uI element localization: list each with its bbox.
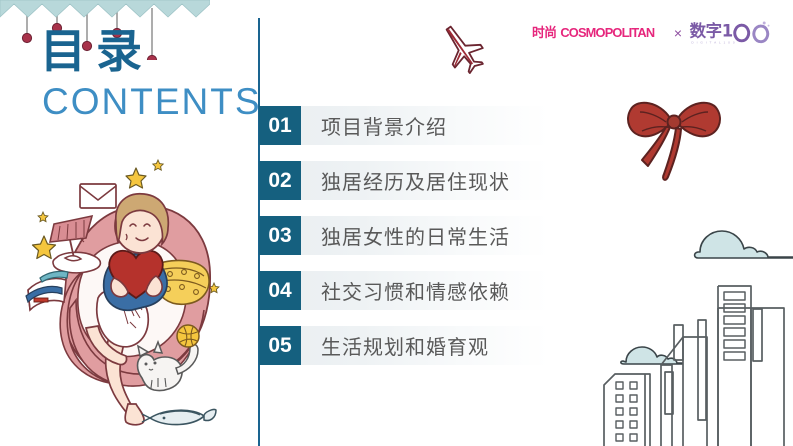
toc-label-03: 独居女性的日常生活: [321, 221, 510, 250]
woman-on-armchair-illustration: [18, 150, 254, 440]
toc-item-04[interactable]: 04 社交习惯和情感依赖: [259, 271, 549, 310]
cosmopolitan-logo-icon: 时尚 COSMOPOLITAN: [532, 22, 667, 44]
toc-number-03: 03: [259, 216, 301, 255]
toc-item-01[interactable]: 01 项目背景介绍: [259, 106, 549, 145]
title-english: CONTENTS: [42, 83, 250, 120]
svg-text:数字1: 数字1: [690, 21, 733, 40]
toc-number-01: 01: [259, 106, 301, 145]
toc-number-02: 02: [259, 161, 301, 200]
toc-label-05: 生活规划和婚育观: [321, 331, 489, 360]
brand-logo: 时尚 COSMOPOLITAN × 数字1 D I G I T A L 1 0 …: [532, 19, 777, 47]
toc-item-02[interactable]: 02 独居经历及居住现状: [259, 161, 549, 200]
svg-text:COSMOPOLITAN: COSMOPOLITAN: [560, 25, 655, 40]
shuzi100-logo-icon: 数字1 D I G I T A L 1 0 0: [689, 20, 777, 46]
cloud-upper: [695, 231, 793, 258]
toc-item-05[interactable]: 05 生活规划和婚育观: [259, 326, 549, 365]
contents-list: 01 项目背景介绍 02 独居经历及居住现状 03 独居女性的日常生活 04 社…: [259, 106, 549, 381]
toc-item-03[interactable]: 03 独居女性的日常生活: [259, 216, 549, 255]
toc-label-04: 社交习惯和情感依赖: [321, 276, 510, 305]
toc-label-01: 项目背景介绍: [321, 111, 447, 140]
airplane-icon: [432, 18, 492, 78]
toc-label-02: 独居经历及居住现状: [321, 166, 510, 195]
page-title: 目录 CONTENTS: [40, 28, 250, 120]
title-chinese: 目录: [40, 28, 250, 74]
toc-number-04: 04: [259, 271, 301, 310]
toc-number-05: 05: [259, 326, 301, 365]
svg-text:时尚: 时尚: [532, 25, 556, 41]
svg-text:D I G I T A L 1 0 0: D I G I T A L 1 0 0: [691, 40, 735, 44]
city-skyline: [548, 222, 793, 446]
slide-root: 目录 CONTENTS 时尚 COSMOPOLITAN × 数字1 D I G …: [0, 0, 793, 446]
ribbon-bow-icon: [620, 78, 730, 188]
logo-separator: ×: [674, 25, 682, 41]
